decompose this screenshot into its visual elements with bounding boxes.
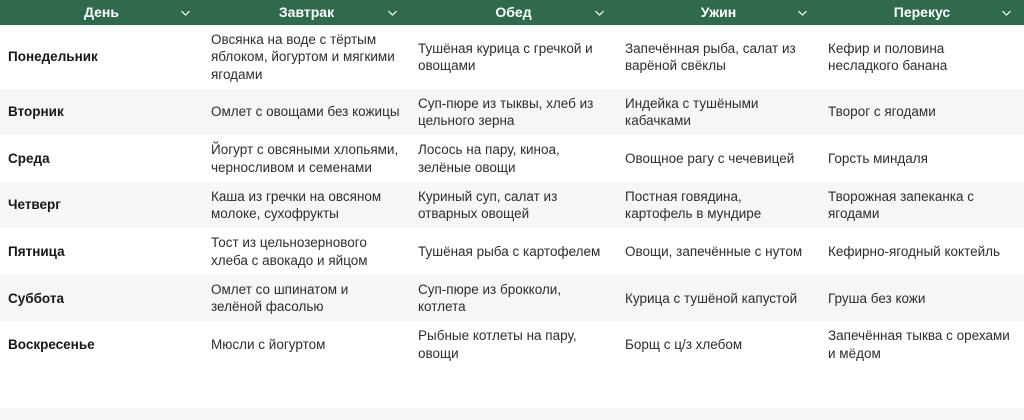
table-row[interactable]: Воскресенье Мюсли с йогуртом Рыбные котл…: [0, 321, 1024, 368]
column-header-breakfast[interactable]: Завтрак: [203, 0, 410, 25]
cell-breakfast: Тост из цельнозернового хлеба с авокадо …: [203, 228, 410, 275]
cell-dinner: Овощное рагу с чечевицей: [617, 135, 820, 182]
column-header-day-label: День: [84, 0, 119, 25]
cell-lunch: Рыбные котлеты на пару, овощи: [410, 321, 617, 368]
cell-breakfast: Омлет со шпинатом и зелёной фасолью: [203, 275, 410, 322]
cell-lunch: Суп-пюре из брокколи, котлета: [410, 275, 617, 322]
column-header-breakfast-label: Завтрак: [279, 0, 334, 25]
column-header-day[interactable]: День: [0, 0, 203, 25]
cell-dinner: Постная говядина, картофель в мундире: [617, 182, 820, 229]
column-header-snack-label: Перекус: [894, 0, 950, 25]
cell-lunch: Суп-пюре из тыквы, хлеб из цельного зерн…: [410, 89, 617, 136]
chevron-down-icon[interactable]: [1001, 7, 1012, 18]
cell-breakfast: Каша из гречки на овсяном молоке, сухофр…: [203, 182, 410, 229]
cell-breakfast: Омлет с овощами без кожицы: [203, 89, 410, 136]
table-row[interactable]: Вторник Омлет с овощами без кожицы Суп-п…: [0, 89, 1024, 136]
cell-snack: Запечённая тыква с орехами и мёдом: [820, 321, 1024, 368]
meal-plan-table: День Завтрак: [0, 0, 1024, 368]
table-row[interactable]: Среда Йогурт с овсяными хлопьями, чернос…: [0, 135, 1024, 182]
column-header-lunch[interactable]: Обед: [410, 0, 617, 25]
table-header: День Завтрак: [0, 0, 1024, 25]
cell-snack: Творог с ягодами: [820, 89, 1024, 136]
chevron-down-icon[interactable]: [797, 7, 808, 18]
meal-plan-table-container: День Завтрак: [0, 0, 1024, 420]
cell-lunch: Тушёная рыба с картофелем: [410, 228, 617, 275]
cell-day: Понедельник: [0, 25, 203, 89]
table-row[interactable]: Пятница Тост из цельнозернового хлеба с …: [0, 228, 1024, 275]
chevron-down-icon[interactable]: [594, 7, 605, 18]
cell-snack: Творожная запеканка с ягодами: [820, 182, 1024, 229]
column-header-dinner[interactable]: Ужин: [617, 0, 820, 25]
cell-dinner: Борщ с ц/з хлебом: [617, 321, 820, 368]
table-row[interactable]: Понедельник Овсянка на воде с тёртым ябл…: [0, 25, 1024, 89]
cell-breakfast: Овсянка на воде с тёртым яблоком, йогурт…: [203, 25, 410, 89]
cell-snack: Кефирно-ягодный коктейль: [820, 228, 1024, 275]
table-row[interactable]: Четверг Каша из гречки на овсяном молоке…: [0, 182, 1024, 229]
cell-lunch: Лосось на пару, киноа, зелёные овощи: [410, 135, 617, 182]
table-body: Понедельник Овсянка на воде с тёртым ябл…: [0, 25, 1024, 368]
chevron-down-icon[interactable]: [387, 7, 398, 18]
table-bottom-strip: [0, 408, 1024, 420]
cell-breakfast: Мюсли с йогуртом: [203, 321, 410, 368]
cell-day: Суббота: [0, 275, 203, 322]
cell-dinner: Овощи, запечённые с нутом: [617, 228, 820, 275]
cell-lunch: Тушёная курица с гречкой и овощами: [410, 25, 617, 89]
cell-snack: Кефир и половина несладкого банана: [820, 25, 1024, 89]
chevron-down-icon[interactable]: [180, 7, 191, 18]
cell-lunch: Куриный суп, салат из отварных овощей: [410, 182, 617, 229]
table-header-row: День Завтрак: [0, 0, 1024, 25]
cell-dinner: Индейка с тушёными кабачками: [617, 89, 820, 136]
cell-snack: Груша без кожи: [820, 275, 1024, 322]
cell-day: Четверг: [0, 182, 203, 229]
cell-snack: Горсть миндаля: [820, 135, 1024, 182]
column-header-snack[interactable]: Перекус: [820, 0, 1024, 25]
cell-day: Воскресенье: [0, 321, 203, 368]
cell-breakfast: Йогурт с овсяными хлопьями, черносливом …: [203, 135, 410, 182]
cell-day: Вторник: [0, 89, 203, 136]
table-row[interactable]: Суббота Омлет со шпинатом и зелёной фасо…: [0, 275, 1024, 322]
column-header-lunch-label: Обед: [495, 0, 531, 25]
cell-dinner: Курица с тушёной капустой: [617, 275, 820, 322]
cell-dinner: Запечённая рыба, салат из варёной свёклы: [617, 25, 820, 89]
cell-day: Пятница: [0, 228, 203, 275]
cell-day: Среда: [0, 135, 203, 182]
column-header-dinner-label: Ужин: [701, 0, 737, 25]
